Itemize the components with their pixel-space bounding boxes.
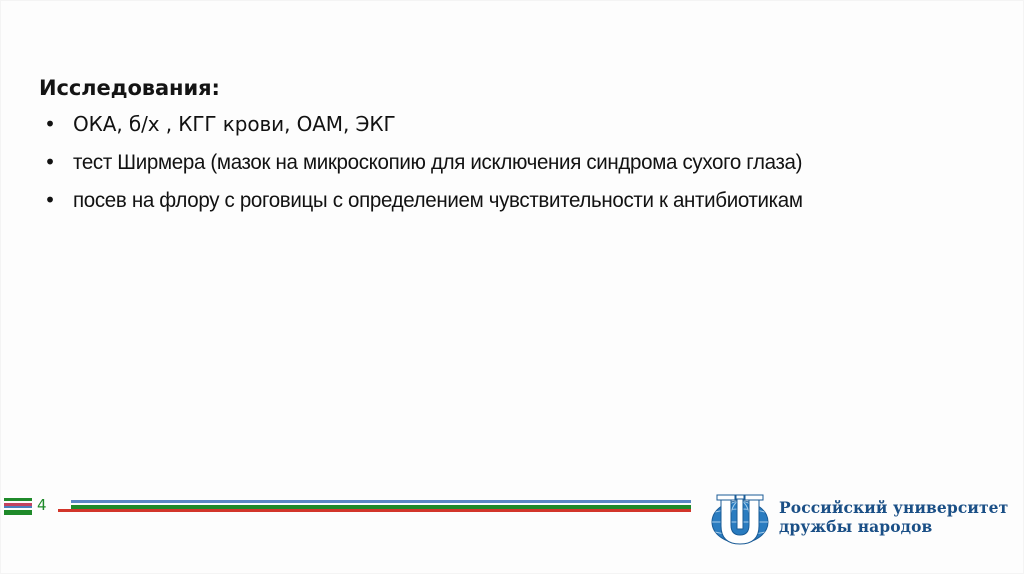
rudn-university-logo: Российский университет дружбы народов bbox=[707, 489, 1007, 555]
logo-line-1: Российский университет bbox=[779, 498, 1008, 517]
list-item: • тест Ширмера (мазок на микроскопию для… bbox=[39, 147, 889, 177]
list-item: • посев на флору с роговицы с определени… bbox=[39, 185, 889, 215]
list-item-label: посев на флору с роговицы с определением… bbox=[73, 185, 852, 215]
list-item-label: ОКА, б/х , КГГ крови, ОАМ, ЭКГ bbox=[73, 109, 889, 139]
slide-footer: 4 bbox=[1, 487, 1024, 573]
list-item-label: тест Ширмера (мазок на микроскопию для и… bbox=[73, 147, 852, 177]
logo-wordmark: Российский университет дружбы народов bbox=[779, 498, 1008, 536]
page-title: Исследования: bbox=[39, 73, 889, 103]
list-item: • ОКА, б/х , КГГ крови, ОАМ, ЭКГ bbox=[39, 109, 889, 139]
bullet-list: • ОКА, б/х , КГГ крови, ОАМ, ЭКГ • тест … bbox=[39, 109, 889, 215]
logo-line-2: дружбы народов bbox=[779, 517, 1008, 536]
slide-content: Исследования: • ОКА, б/х , КГГ крови, ОА… bbox=[39, 73, 889, 223]
bullet-icon: • bbox=[43, 147, 57, 177]
bullet-icon: • bbox=[43, 185, 57, 215]
rule-red-line bbox=[58, 509, 691, 512]
bullet-icon: • bbox=[43, 109, 57, 139]
rudn-globe-emblem-icon bbox=[707, 489, 773, 551]
presentation-slide: Исследования: • ОКА, б/х , КГГ крови, ОА… bbox=[0, 0, 1024, 574]
